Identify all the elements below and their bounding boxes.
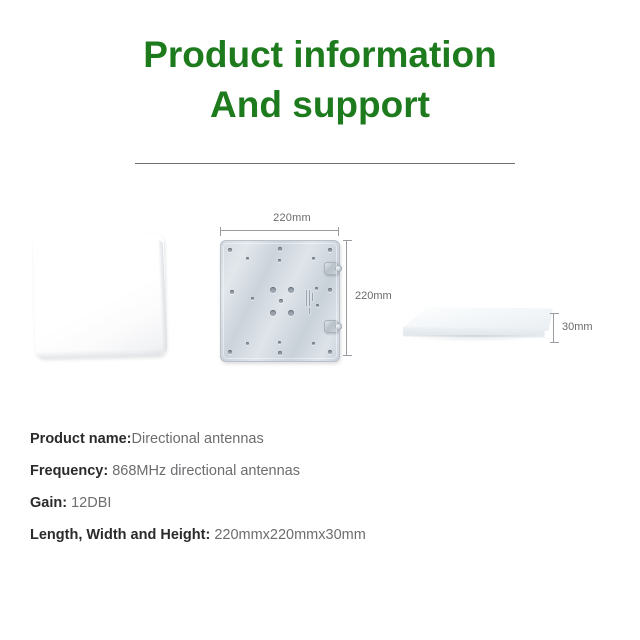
dimension-width-line bbox=[220, 230, 339, 231]
antenna-drop-shadow bbox=[404, 335, 544, 342]
product-info-page: Product information And support 220mm bbox=[0, 0, 640, 640]
spec-label: Length, Width and Height: bbox=[30, 527, 214, 543]
title-divider bbox=[135, 163, 515, 164]
product-image-side-view: 30mm bbox=[398, 295, 608, 375]
page-title-line-2: And support bbox=[0, 80, 640, 130]
spec-row-product-name: Product name:Directional antennas bbox=[30, 428, 610, 460]
spec-row-frequency: Frequency: 868MHz directional antennas bbox=[30, 460, 610, 492]
spec-row-gain: Gain: 12DBI bbox=[30, 492, 610, 524]
spec-value: 220mmx220mmx30mm bbox=[214, 527, 366, 543]
spec-label: Gain: bbox=[30, 495, 71, 511]
page-title-line-1: Product information bbox=[0, 30, 640, 80]
dimension-thickness-label: 30mm bbox=[562, 321, 593, 333]
product-image-front-view bbox=[34, 235, 171, 363]
antenna-front-panel bbox=[33, 234, 167, 359]
spec-row-dimensions: Length, Width and Height: 220mmx220mmx30… bbox=[30, 524, 610, 556]
dimension-thickness-line bbox=[553, 313, 554, 343]
spec-value: Directional antennas bbox=[132, 431, 264, 447]
product-image-back-view: 220mm bbox=[205, 200, 380, 385]
antenna-connector-top bbox=[324, 262, 338, 275]
spec-label: Frequency: bbox=[30, 463, 112, 479]
product-specifications: Product name:Directional antennas Freque… bbox=[30, 428, 610, 556]
antenna-back-plate bbox=[220, 240, 340, 362]
spec-label: Product name: bbox=[30, 431, 132, 447]
spec-value: 12DBI bbox=[71, 495, 111, 511]
dimension-height-line bbox=[346, 240, 347, 356]
antenna-connector-bottom bbox=[324, 320, 338, 333]
page-title: Product information And support bbox=[0, 30, 640, 130]
panel-right-edge bbox=[158, 240, 168, 352]
spec-value: 868MHz directional antennas bbox=[112, 463, 300, 479]
dimension-height-label: 220mm bbox=[355, 290, 392, 302]
product-gallery: 220mm bbox=[0, 200, 640, 385]
dimension-width-label: 220mm bbox=[257, 212, 327, 224]
